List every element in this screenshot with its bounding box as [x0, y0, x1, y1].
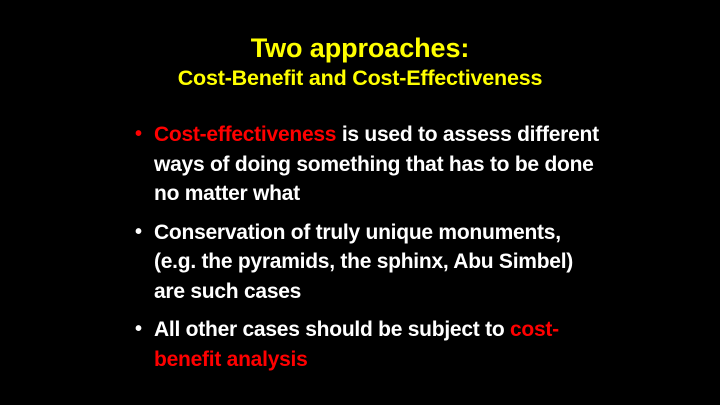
title-block: Two approaches: Cost-Benefit and Cost-Ef… — [0, 33, 720, 91]
presentation-slide: Two approaches: Cost-Benefit and Cost-Ef… — [0, 0, 720, 405]
bullet-point-icon: • — [134, 120, 154, 150]
body-text: All other cases should be subject to — [154, 318, 510, 341]
list-item: • Cost-effectiveness is used to assess d… — [134, 120, 604, 209]
list-item: • All other cases should be subject to c… — [134, 315, 604, 374]
emphasis-text: Cost-effectiveness — [154, 123, 336, 146]
bullet-list: • Cost-effectiveness is used to assess d… — [134, 120, 604, 383]
bullet-point-icon: • — [134, 315, 154, 345]
list-item-text: All other cases should be subject to cos… — [154, 315, 604, 374]
body-text: Conservation of truly unique monuments, … — [154, 221, 573, 303]
bullet-point-icon: • — [134, 218, 154, 248]
page-title: Two approaches: — [0, 33, 720, 64]
list-item-text: Conservation of truly unique monuments, … — [154, 218, 604, 307]
list-item: • Conservation of truly unique monuments… — [134, 218, 604, 307]
list-item-text: Cost-effectiveness is used to assess dif… — [154, 120, 604, 209]
page-subtitle: Cost-Benefit and Cost-Effectiveness — [0, 65, 720, 91]
